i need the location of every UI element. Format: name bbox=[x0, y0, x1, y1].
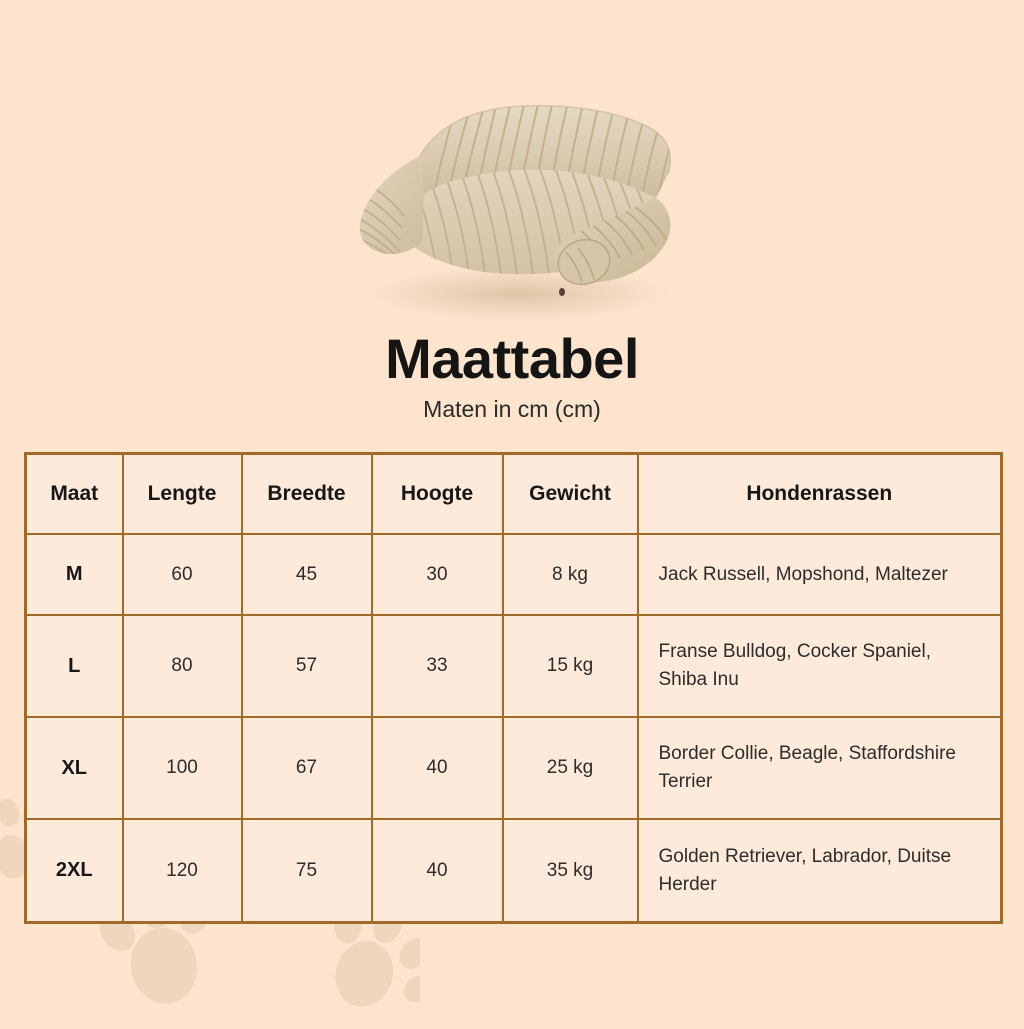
cell-maat-2xl: 2XL bbox=[26, 819, 123, 923]
size-table-container: Maat Lengte Breedte Hoogte Gewicht Honde… bbox=[24, 452, 1000, 924]
product-image-area bbox=[0, 72, 1024, 342]
cell-hondenrassen-xl: Border Collie, Beagle, Staffordshire Ter… bbox=[638, 717, 1002, 819]
cell-hoogte-xl: 40 bbox=[372, 717, 503, 819]
column-header-hondenrassen: Hondenrassen bbox=[638, 454, 1002, 535]
cell-lengte-l: 80 bbox=[123, 615, 242, 717]
cell-maat-l: L bbox=[26, 615, 123, 717]
table-row: XL 100 67 40 25 kg Border Collie, Beagle… bbox=[26, 717, 1002, 819]
column-header-lengte: Lengte bbox=[123, 454, 242, 535]
table-row: M 60 45 30 8 kg Jack Russell, Mopshond, … bbox=[26, 534, 1002, 615]
cell-gewicht-l: 15 kg bbox=[503, 615, 638, 717]
cell-hoogte-l: 33 bbox=[372, 615, 503, 717]
cell-hondenrassen-m: Jack Russell, Mopshond, Maltezer bbox=[638, 534, 1002, 615]
cell-breedte-l: 57 bbox=[242, 615, 372, 717]
cell-lengte-m: 60 bbox=[123, 534, 242, 615]
size-table: Maat Lengte Breedte Hoogte Gewicht Honde… bbox=[24, 452, 1003, 924]
cell-lengte-2xl: 120 bbox=[123, 819, 242, 923]
cell-hoogte-2xl: 40 bbox=[372, 819, 503, 923]
cell-hondenrassen-2xl: Golden Retriever, Labrador, Duitse Herde… bbox=[638, 819, 1002, 923]
table-header-row: Maat Lengte Breedte Hoogte Gewicht Honde… bbox=[26, 454, 1002, 535]
cell-gewicht-m: 8 kg bbox=[503, 534, 638, 615]
page-title: Maattabel bbox=[0, 330, 1024, 389]
column-header-maat: Maat bbox=[26, 454, 123, 535]
bed-tag bbox=[559, 288, 565, 296]
bed-left-bolster bbox=[350, 156, 424, 276]
table-row: L 80 57 33 15 kg Franse Bulldog, Cocker … bbox=[26, 615, 1002, 717]
cell-breedte-2xl: 75 bbox=[242, 819, 372, 923]
column-header-breedte: Breedte bbox=[242, 454, 372, 535]
table-row: 2XL 120 75 40 35 kg Golden Retriever, La… bbox=[26, 819, 1002, 923]
cell-hoogte-m: 30 bbox=[372, 534, 503, 615]
cell-maat-xl: XL bbox=[26, 717, 123, 819]
column-header-hoogte: Hoogte bbox=[372, 454, 503, 535]
cell-breedte-xl: 67 bbox=[242, 717, 372, 819]
page-subtitle: Maten in cm (cm) bbox=[0, 397, 1024, 422]
cell-lengte-xl: 100 bbox=[123, 717, 242, 819]
cell-maat-m: M bbox=[26, 534, 123, 615]
title-block: Maattabel Maten in cm (cm) bbox=[0, 330, 1024, 422]
cell-gewicht-2xl: 35 kg bbox=[503, 819, 638, 923]
dog-bed-illustration bbox=[312, 82, 712, 332]
column-header-gewicht: Gewicht bbox=[503, 454, 638, 535]
cell-hondenrassen-l: Franse Bulldog, Cocker Spaniel, Shiba In… bbox=[638, 615, 1002, 717]
cell-gewicht-xl: 25 kg bbox=[503, 717, 638, 819]
cell-breedte-m: 45 bbox=[242, 534, 372, 615]
